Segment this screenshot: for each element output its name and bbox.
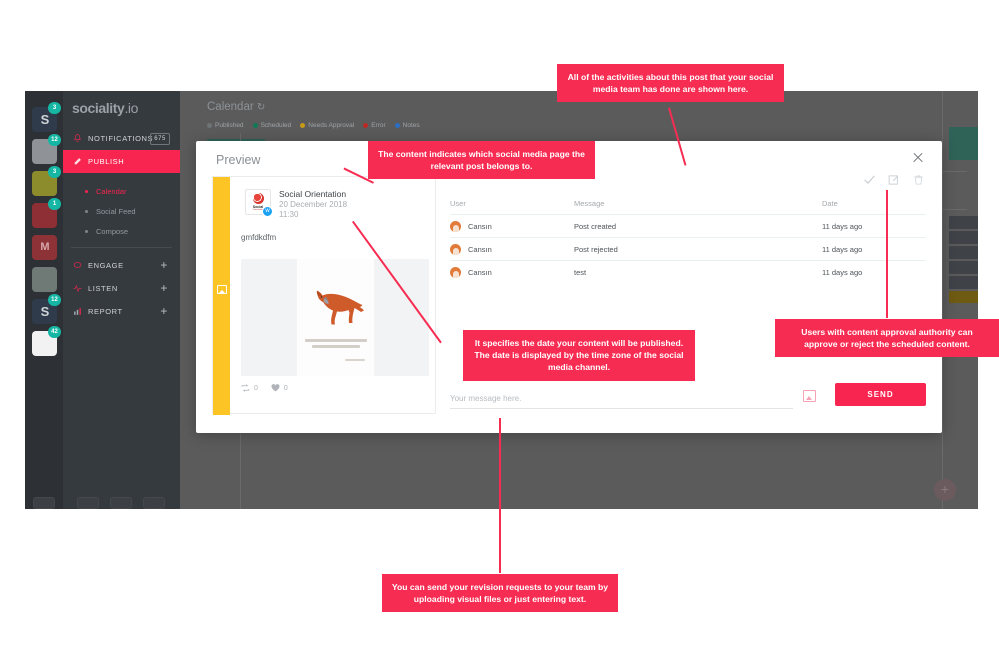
- account-rail: S 3 12 3 1 M S 12 42: [25, 91, 63, 509]
- post-stats: 0 0: [241, 384, 288, 392]
- rail-badge: 12: [48, 294, 61, 306]
- nav-bottom-icon-1[interactable]: [77, 497, 99, 509]
- cell-date: 11 days ago: [822, 222, 926, 231]
- column-header-date: Date: [822, 199, 926, 208]
- cell-date: 11 days ago: [822, 245, 926, 254]
- nav-active-caret: [113, 150, 125, 156]
- notifications-badge: 675: [150, 133, 170, 145]
- bullet-icon: [85, 230, 88, 233]
- account-logo-icon: [253, 193, 264, 204]
- column-header-user: User: [450, 199, 574, 208]
- nav-item-engage[interactable]: ENGAGE +: [63, 254, 180, 277]
- cell-message: Post rejected: [574, 245, 822, 254]
- user-avatar-icon: [450, 267, 461, 278]
- cell-user: Cansın: [450, 267, 574, 278]
- sidebar-item-label: Compose: [96, 227, 128, 236]
- cell-message: Post created: [574, 222, 822, 231]
- annotation-date: It specifies the date your content will …: [463, 330, 695, 381]
- rail-account-4[interactable]: 1: [32, 203, 57, 228]
- post-body-text: gmfdkdfm: [241, 233, 276, 242]
- caption-line: [312, 345, 360, 348]
- calendar-event[interactable]: [949, 261, 978, 274]
- screenshot-root: S 3 12 3 1 M S 12 42: [0, 0, 999, 648]
- nav-bottom-icon-3[interactable]: [143, 497, 165, 509]
- nav-item-label: LISTEN: [88, 284, 118, 293]
- rail-account-1[interactable]: S 3: [32, 107, 57, 132]
- column-header-message: Message: [574, 199, 822, 208]
- rail-account-8[interactable]: 42: [32, 331, 57, 356]
- cell-user: Cansın: [450, 221, 574, 232]
- legend-dot: [300, 123, 305, 128]
- trash-icon[interactable]: [913, 173, 926, 186]
- nav-item-label: REPORT: [88, 307, 123, 316]
- legend-dot: [253, 123, 258, 128]
- user-avatar-icon: [450, 244, 461, 255]
- nav-item-label: PUBLISH: [88, 157, 124, 166]
- rail-badge: 12: [48, 134, 61, 146]
- dog-illustration: [306, 284, 366, 332]
- legend-item: Error: [363, 122, 385, 129]
- post-account-name: Social Orientation: [279, 189, 346, 199]
- modal-title: Preview: [216, 153, 260, 167]
- sidebar-item-calendar[interactable]: Calendar: [63, 181, 180, 201]
- image-icon: [217, 285, 227, 294]
- nav-item-publish[interactable]: PUBLISH: [63, 150, 180, 173]
- chart-icon: [73, 307, 82, 316]
- avatar: Social Orientation w: [245, 189, 271, 215]
- annotation-revision: You can send your revision requests to y…: [382, 574, 618, 612]
- user-avatar-icon: [450, 221, 461, 232]
- pencil-icon: [73, 157, 82, 166]
- legend-dot: [363, 123, 368, 128]
- close-icon[interactable]: [912, 152, 924, 164]
- user-name: Cansın: [468, 222, 492, 231]
- check-icon[interactable]: [863, 173, 876, 186]
- brand-suffix: .io: [124, 100, 138, 116]
- calendar-legend: Published Scheduled Needs Approval Error…: [180, 113, 978, 129]
- expand-icon[interactable]: +: [160, 305, 168, 317]
- nav-divider: [71, 247, 172, 248]
- rail-account-6[interactable]: [32, 267, 57, 292]
- chat-icon: [73, 261, 82, 270]
- legend-dot: [207, 123, 212, 128]
- user-name: Cansın: [468, 245, 492, 254]
- sidebar-item-label: Social Feed: [96, 207, 136, 216]
- leader-line-a5: [499, 418, 501, 573]
- pulse-icon: [73, 284, 82, 293]
- caption-line: [305, 339, 367, 342]
- rail-account-7[interactable]: S 12: [32, 299, 57, 324]
- legend-item: Needs Approval: [300, 122, 354, 129]
- calendar-event[interactable]: [949, 246, 978, 259]
- edit-icon[interactable]: [888, 173, 901, 186]
- rail-badge: 3: [48, 166, 61, 178]
- activity-table: User Message Date Cansın Post created 11…: [450, 199, 926, 283]
- table-row[interactable]: Cansın test 11 days ago: [450, 260, 926, 283]
- refresh-icon[interactable]: ↻: [257, 102, 265, 113]
- like-stat[interactable]: 0: [271, 384, 288, 392]
- bell-icon: [73, 134, 82, 143]
- legend-dot: [395, 123, 400, 128]
- post-time: 11:30: [279, 210, 298, 219]
- legend-item: Notes: [395, 122, 420, 129]
- modal-actions: [863, 173, 926, 186]
- bullet-icon: [85, 210, 88, 213]
- cell-date: 11 days ago: [822, 268, 926, 277]
- annotation-activities: All of the activities about this post th…: [557, 64, 784, 102]
- message-input[interactable]: [450, 389, 793, 409]
- sidebar-item-compose[interactable]: Compose: [63, 221, 180, 241]
- rail-account-3[interactable]: 3: [32, 171, 57, 196]
- image-upload-icon[interactable]: [803, 390, 816, 402]
- calendar-event[interactable]: [949, 291, 978, 303]
- sidebar-item-label: Calendar: [96, 187, 126, 196]
- post-date: 20 December 2018: [279, 200, 347, 209]
- retweet-icon: [241, 384, 250, 392]
- annotation-approval: Users with content approval authority ca…: [775, 319, 999, 357]
- like-count: 0: [284, 385, 288, 392]
- grid-line: [942, 91, 943, 509]
- nav-bottom-icon-2[interactable]: [110, 497, 132, 509]
- nav-item-report[interactable]: REPORT +: [63, 300, 180, 323]
- rail-badge: 1: [48, 198, 61, 210]
- annotation-content-page: The content indicates which social media…: [368, 141, 595, 179]
- post-media[interactable]: [241, 259, 429, 376]
- retweet-stat[interactable]: 0: [241, 384, 258, 392]
- rail-badge: 42: [48, 326, 61, 338]
- user-name: Cansın: [468, 268, 492, 277]
- rail-bottom-icon[interactable]: [33, 497, 55, 509]
- main-nav: sociality.io NOTIFICATIONS 675 PUBLISH: [63, 91, 180, 509]
- heart-icon: [271, 384, 280, 392]
- expand-icon[interactable]: +: [160, 282, 168, 294]
- nav-item-label: ENGAGE: [88, 261, 124, 270]
- retweet-count: 0: [254, 385, 258, 392]
- post-preview-card: Social Orientation w Social Orientation …: [212, 176, 436, 414]
- calendar-event[interactable]: [949, 231, 978, 244]
- preview-modal: Preview Social Orientation: [196, 141, 942, 433]
- send-button[interactable]: SEND: [835, 383, 926, 406]
- sidebar-item-social-feed[interactable]: Social Feed: [63, 201, 180, 221]
- calendar-event[interactable]: [949, 127, 978, 160]
- bullet-icon: [85, 190, 88, 193]
- expand-icon[interactable]: +: [160, 259, 168, 271]
- table-row[interactable]: Cansın Post created 11 days ago: [450, 214, 926, 237]
- rail-badge: 3: [48, 102, 61, 114]
- add-post-fab[interactable]: +: [934, 479, 956, 501]
- status-strip: [213, 177, 230, 415]
- legend-item: Published: [207, 122, 244, 129]
- nav-item-listen[interactable]: LISTEN +: [63, 277, 180, 300]
- table-header: User Message Date: [450, 199, 926, 214]
- leader-line-a3: [886, 190, 888, 318]
- rail-account-5[interactable]: M: [32, 235, 57, 260]
- rail-account-2[interactable]: 12: [32, 139, 57, 164]
- nav-item-label: NOTIFICATIONS: [88, 134, 153, 143]
- caption-line: [345, 359, 365, 361]
- nav-item-notifications[interactable]: NOTIFICATIONS 675: [63, 127, 180, 150]
- table-row[interactable]: Cansın Post rejected 11 days ago: [450, 237, 926, 260]
- legend-item: Scheduled: [253, 122, 292, 129]
- twitter-icon: w: [262, 206, 273, 217]
- cell-user: Cansın: [450, 244, 574, 255]
- calendar-event[interactable]: [949, 276, 978, 289]
- app-logo: sociality.io: [63, 91, 180, 116]
- calendar-event[interactable]: [949, 216, 978, 229]
- brand-name: sociality: [72, 100, 124, 116]
- cell-message: test: [574, 268, 822, 277]
